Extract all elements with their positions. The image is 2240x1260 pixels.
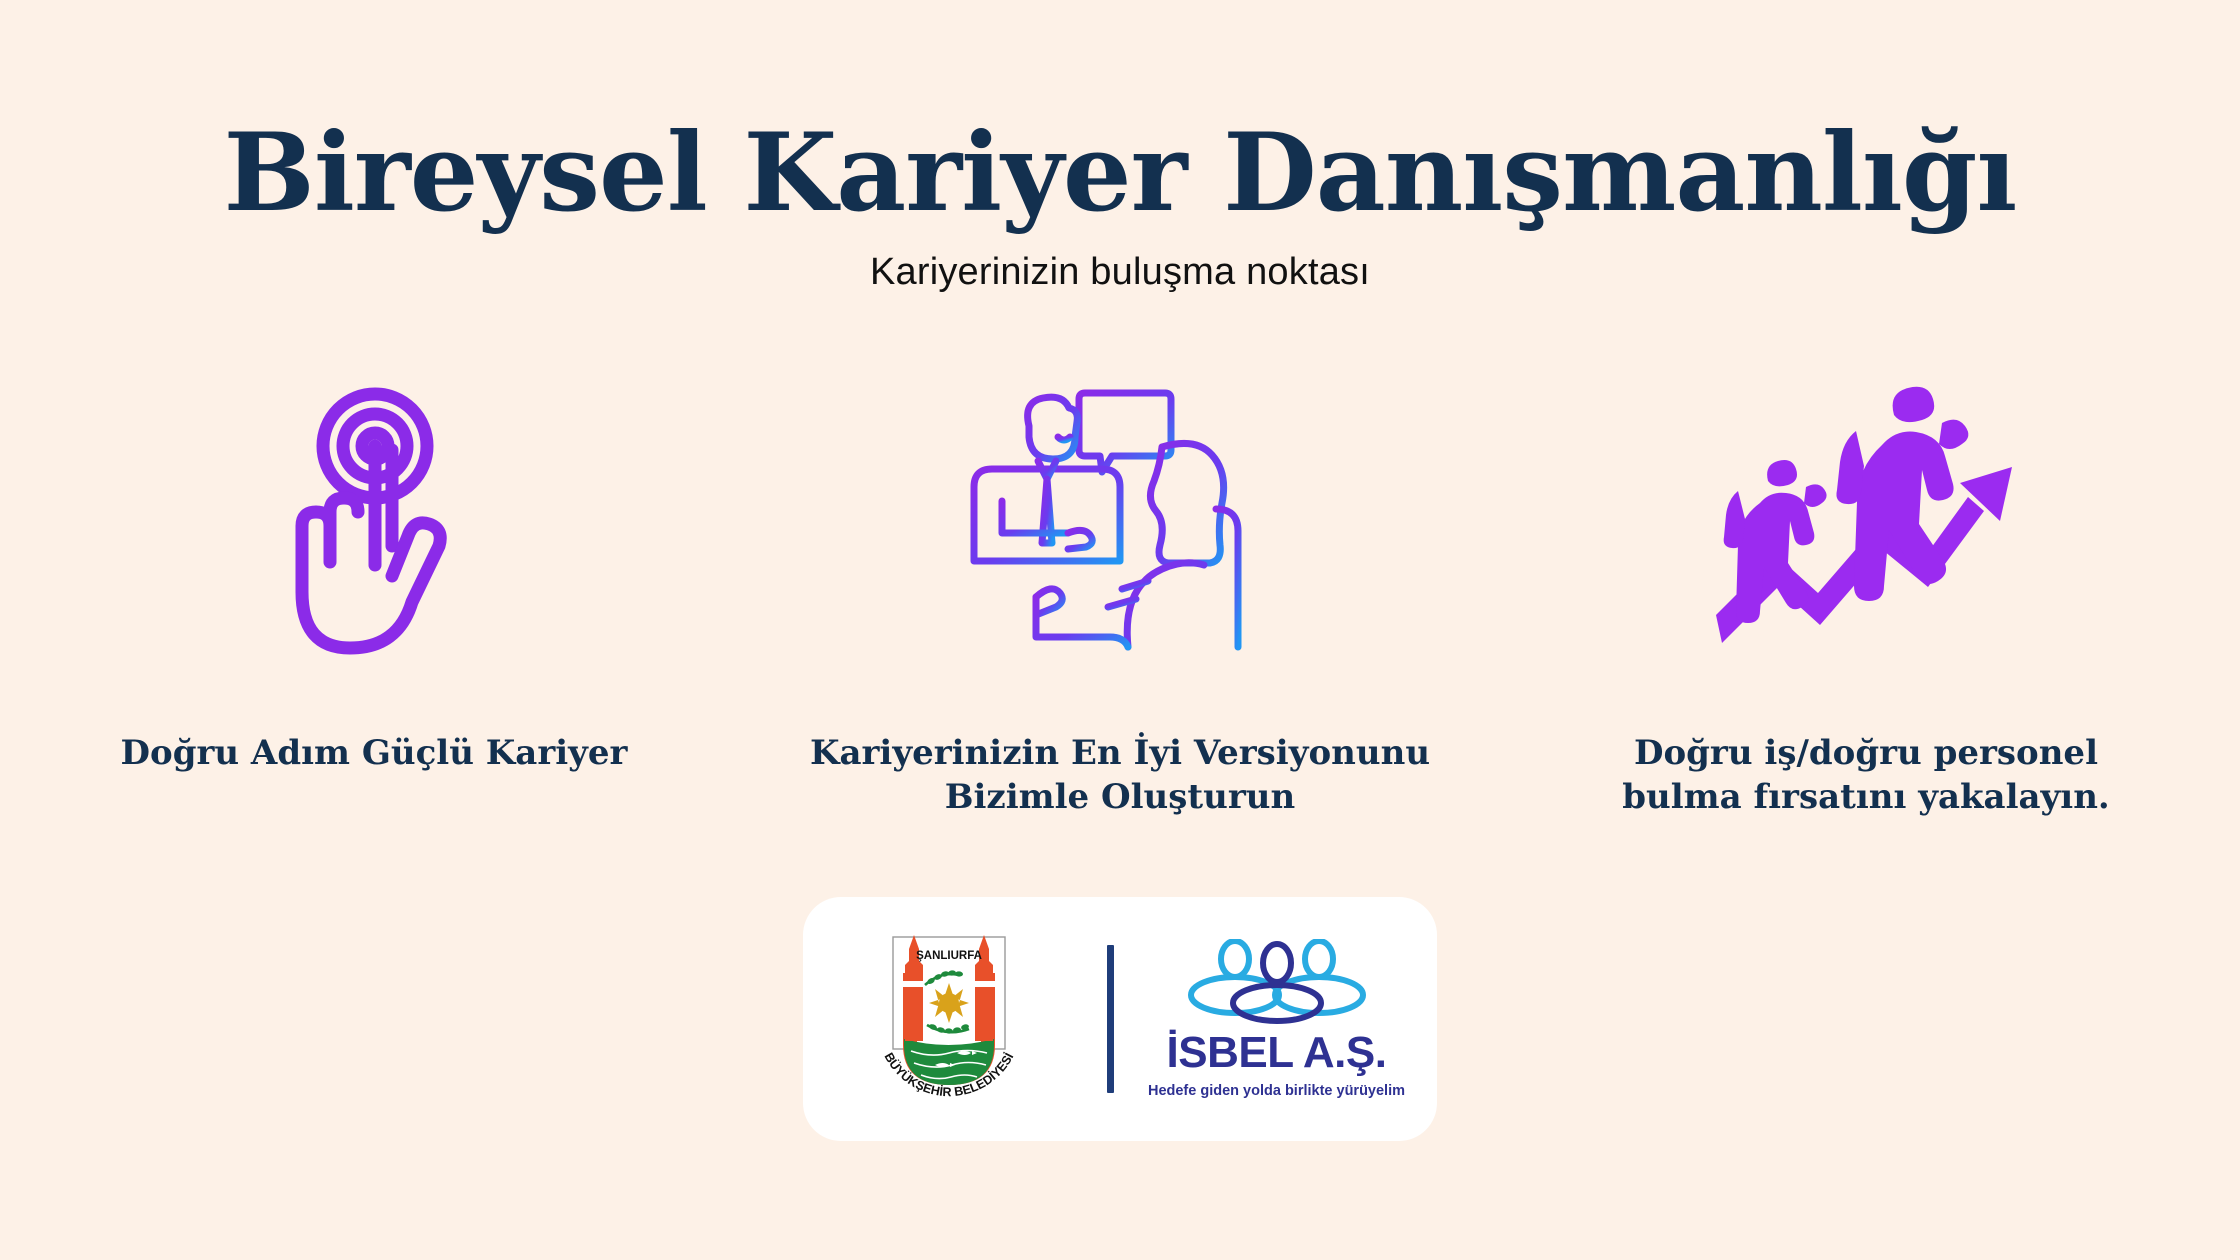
- header: Bireysel Kariyer Danışmanlığı Kariyerini…: [0, 118, 2240, 296]
- logo-card: ŞANLIURFA BÜYÜKŞEHİR BELEDİYESİ: [803, 897, 1437, 1141]
- feature-caption-1: Doğru Adım Güçlü Kariyer: [121, 732, 628, 776]
- poster-canvas: Bireysel Kariyer Danışmanlığı Kariyerini…: [0, 0, 2240, 1260]
- career-consultation-icon: [950, 375, 1290, 660]
- caption-line: Bizimle Oluşturun: [810, 776, 1430, 820]
- caption-line: bulma fırsatını yakalayın.: [1622, 776, 2110, 820]
- logo-divider: [1107, 945, 1114, 1093]
- page-subtitle: Kariyerinizin buluşma noktası: [0, 250, 2240, 296]
- feature-caption-3: Doğru iş/doğru personel bulma fırsatını …: [1622, 732, 2110, 819]
- crest-top-text: ŞANLIURFA: [916, 950, 982, 962]
- feature-art-3: [1716, 360, 2016, 660]
- tap-hand-icon: [289, 380, 459, 660]
- municipality-logo: ŞANLIURFA BÜYÜKŞEHİR BELEDİYESİ: [819, 929, 1089, 1109]
- feature-art-2: [950, 360, 1290, 660]
- feature-art-1: [289, 360, 459, 660]
- feature-item-3: Doğru iş/doğru personel bulma fırsatını …: [1493, 360, 2239, 819]
- feature-item-2: Kariyerinizin En İyi Versiyonunu Bizimle…: [747, 360, 1493, 819]
- caption-line: Doğru Adım Güçlü Kariyer: [121, 732, 628, 776]
- page-title: Bireysel Kariyer Danışmanlığı: [0, 118, 2240, 228]
- isbel-people-icon: [1177, 939, 1377, 1027]
- feature-caption-2: Kariyerinizin En İyi Versiyonunu Bizimle…: [810, 732, 1430, 819]
- caption-line: Kariyerinizin En İyi Versiyonunu: [810, 732, 1430, 776]
- sanliurfa-municipality-crest-icon: ŞANLIURFA BÜYÜKŞEHİR BELEDİYESİ: [869, 929, 1039, 1109]
- feature-list: Doğru Adım Güçlü Kariyer: [0, 360, 2240, 819]
- isbel-wordmark: İSBEL A.Ş.: [1167, 1031, 1387, 1075]
- growth-arrow-people-icon: [1716, 375, 2016, 660]
- feature-item-1: Doğru Adım Güçlü Kariyer: [1, 360, 747, 776]
- caption-line: Doğru iş/doğru personel: [1622, 732, 2110, 776]
- isbel-logo: İSBEL A.Ş. Hedefe giden yolda birlikte y…: [1132, 939, 1422, 1099]
- isbel-tagline: Hedefe giden yolda birlikte yürüyelim: [1148, 1084, 1405, 1099]
